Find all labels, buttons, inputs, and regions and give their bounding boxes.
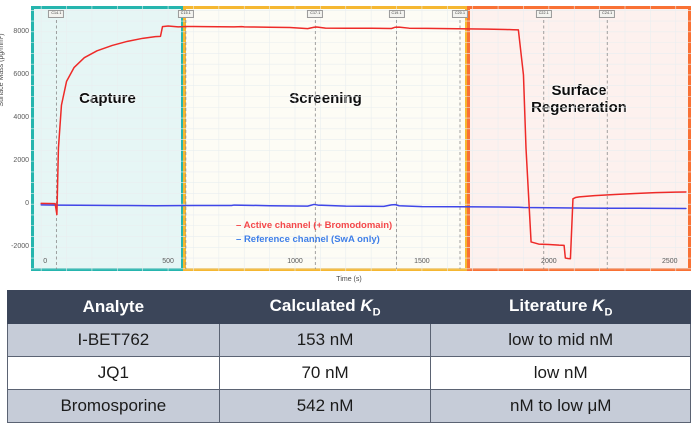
cell-literature-kd: nM to low μM <box>431 390 691 423</box>
table-header: Analyte Calculated KD Literature KD <box>8 291 691 324</box>
legend-label-active: Active channel (+ Bromodomain) <box>244 220 393 231</box>
cycle-marker-label: C20.1 <box>452 10 468 18</box>
x-axis-title: Time (s) <box>0 276 698 283</box>
y-axis-tick-label: 2000 <box>13 157 29 164</box>
y-axis-tick-label: 0 <box>25 200 29 207</box>
x-axis-tick-label: 2500 <box>662 258 678 265</box>
cell-calculated-kd: 542 nM <box>219 390 431 423</box>
cell-literature-kd: low nM <box>431 357 691 390</box>
calculated-prefix: Calculated <box>270 296 361 315</box>
legend-dash-reference: – <box>236 234 241 245</box>
column-header-calculated-kd: Calculated KD <box>219 291 431 324</box>
cycle-marker-label: C14.1 <box>48 10 64 18</box>
legend-item-active: – Active channel (+ Bromodomain) <box>236 219 392 233</box>
kd-symbol-literature: K <box>592 296 604 315</box>
cell-analyte: I-BET762 <box>8 324 220 357</box>
kd-symbol-calculated: K <box>360 296 372 315</box>
y-axis-ticks: 80006000400020000-2000 <box>0 0 29 288</box>
kd-subscript-calculated: D <box>373 306 381 318</box>
table-header-row: Analyte Calculated KD Literature KD <box>8 291 691 324</box>
cycle-marker-label: C24.1 <box>599 10 615 18</box>
x-axis-tick-label: 0 <box>43 258 47 265</box>
column-header-literature-kd: Literature KD <box>431 291 691 324</box>
trace-reference-channel <box>41 204 686 208</box>
cycle-marker-label: C19.1 <box>388 10 404 18</box>
table-body: I-BET762153 nMlow to mid nMJQ170 nMlow n… <box>8 324 691 423</box>
column-header-analyte: Analyte <box>8 291 220 324</box>
table-row: Bromosporine542 nMnM to low μM <box>8 390 691 423</box>
literature-prefix: Literature <box>509 296 592 315</box>
cell-calculated-kd: 70 nM <box>219 357 431 390</box>
figure-root: Surface Mass (pg/mm²) 80006000400020000-… <box>0 0 698 427</box>
y-axis-tick-label: 4000 <box>13 114 29 121</box>
y-axis-tick-label: -2000 <box>11 243 29 250</box>
x-axis-tick-label: 1000 <box>287 258 303 265</box>
cell-analyte: Bromosporine <box>8 390 220 423</box>
kd-subscript-literature: D <box>604 306 612 318</box>
legend-label-reference: Reference channel (SwA only) <box>244 234 380 245</box>
cell-analyte: JQ1 <box>8 357 220 390</box>
cell-literature-kd: low to mid nM <box>431 324 691 357</box>
cycle-marker-label: C17.1 <box>307 10 323 18</box>
cell-calculated-kd: 153 nM <box>219 324 431 357</box>
cycle-marker-label: C22.1 <box>536 10 552 18</box>
plot-area: Capture Screening Surface Regeneration C… <box>31 6 691 271</box>
legend-item-reference: – Reference channel (SwA only) <box>236 233 392 247</box>
x-axis-ticks: 05001000150020002500 <box>31 258 691 272</box>
table-row: I-BET762153 nMlow to mid nM <box>8 324 691 357</box>
cycle-marker-label: C15.1 <box>178 10 194 18</box>
x-axis-tick-label: 2000 <box>541 258 557 265</box>
y-axis-tick-label: 8000 <box>13 28 29 35</box>
table-row: JQ170 nMlow nM <box>8 357 691 390</box>
y-axis-tick-label: 6000 <box>13 71 29 78</box>
sensorgram-chart: Surface Mass (pg/mm²) 80006000400020000-… <box>0 0 698 288</box>
x-axis-tick-label: 1500 <box>414 258 430 265</box>
kd-results-table: Analyte Calculated KD Literature KD I-BE… <box>7 290 691 423</box>
legend-dash-active: – <box>236 220 241 231</box>
x-axis-tick-label: 500 <box>162 258 174 265</box>
chart-legend: – Active channel (+ Bromodomain) – Refer… <box>236 219 392 247</box>
